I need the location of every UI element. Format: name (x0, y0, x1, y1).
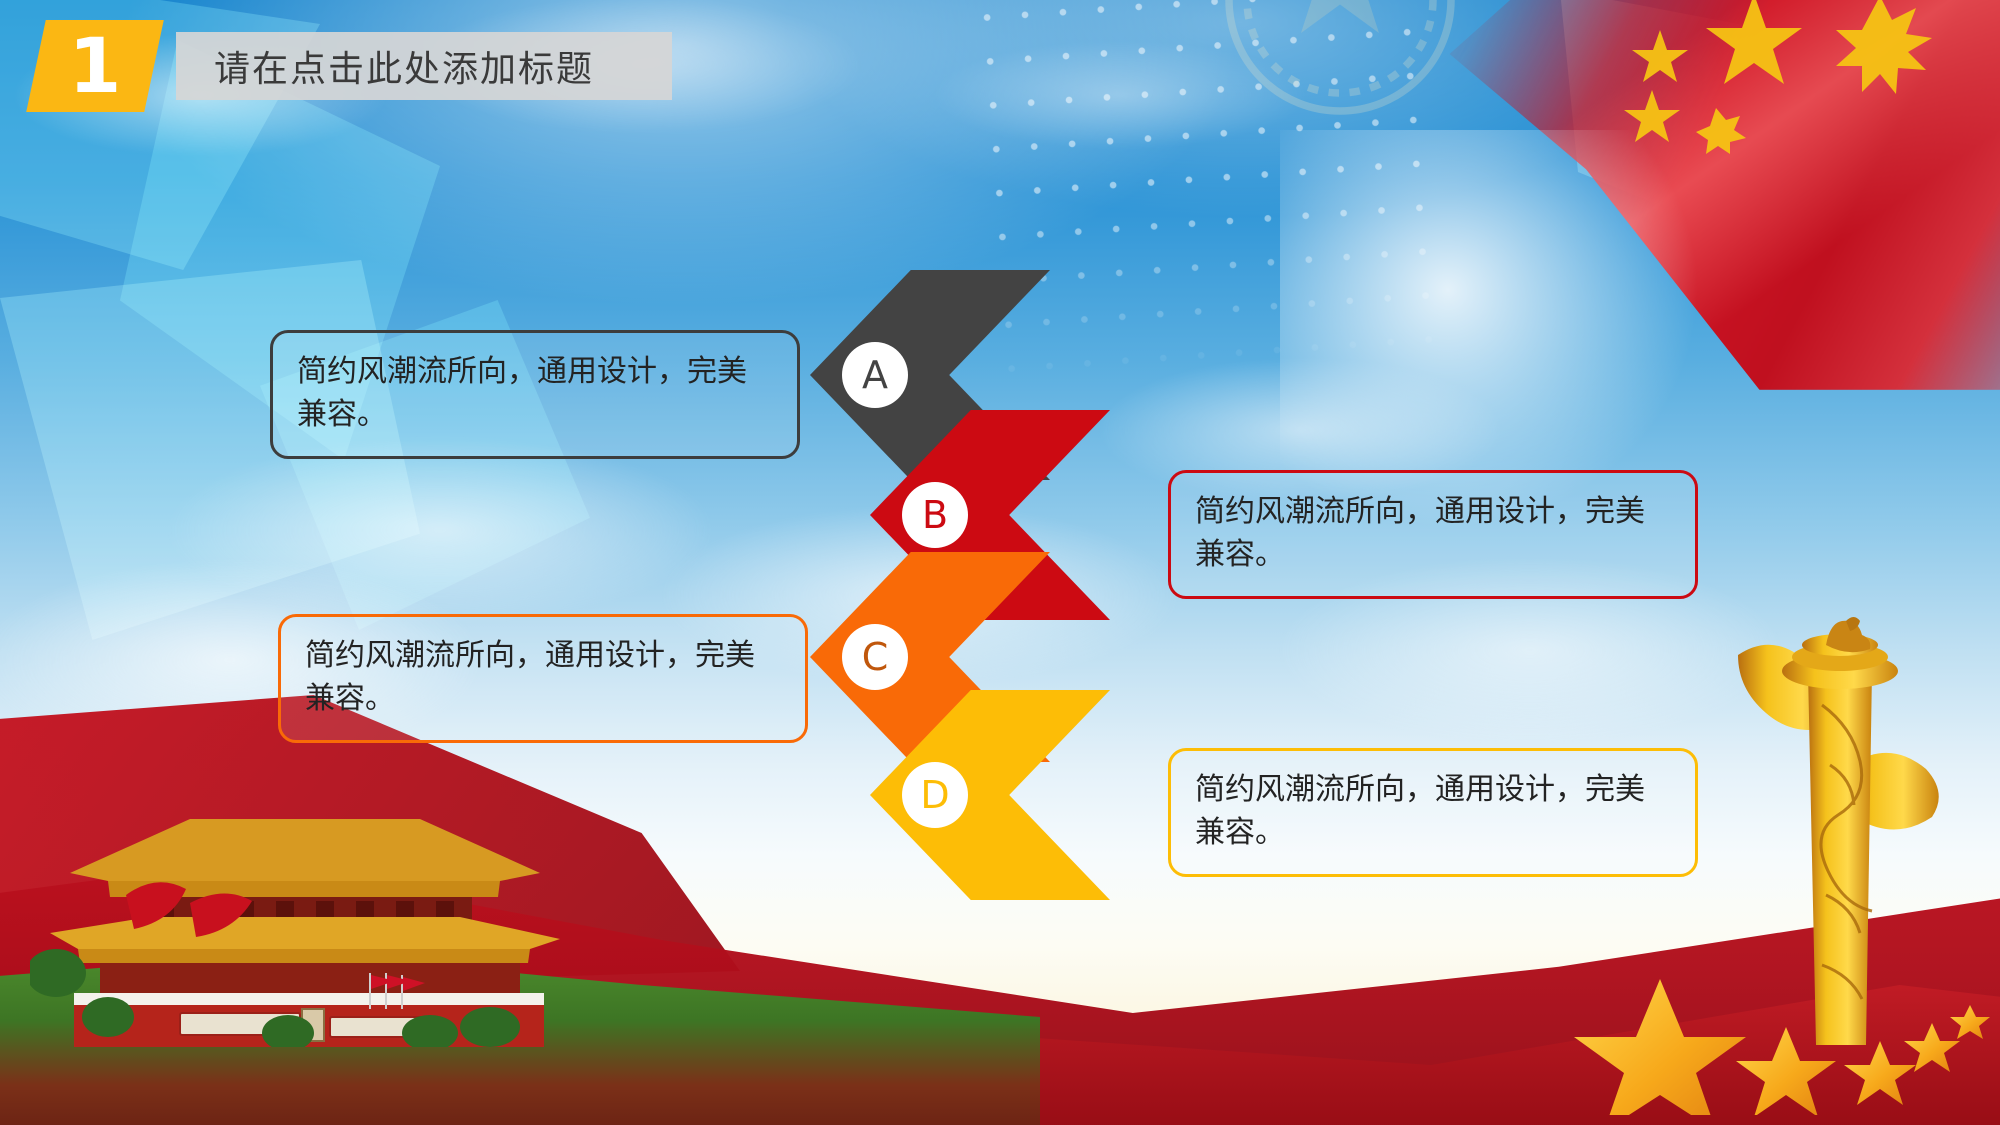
step-badge-d: D (902, 762, 968, 828)
tiananmen-gate-icon (30, 777, 570, 1047)
page-title: 请在点击此处添加标题 (214, 40, 594, 92)
step-text-a: 简约风潮流所向，通用设计，完美兼容。 (297, 351, 773, 436)
step-text-d: 简约风潮流所向，通用设计，完美兼容。 (1195, 769, 1671, 854)
step-text-c: 简约风潮流所向，通用设计，完美兼容。 (305, 635, 781, 720)
step-badge-c: C (842, 624, 908, 690)
title-bar[interactable]: 请在点击此处添加标题 (176, 32, 672, 100)
national-emblem-icon (1190, 0, 1490, 150)
step-textbox-a[interactable]: 简约风潮流所向，通用设计，完美兼容。 (270, 330, 800, 459)
gold-stars-icon (1550, 965, 1990, 1115)
section-number: 1 (36, 20, 154, 112)
section-number-badge: 1 (26, 20, 164, 112)
step-badge-a: A (842, 342, 908, 408)
step-text-b: 简约风潮流所向，通用设计，完美兼容。 (1195, 491, 1671, 576)
step-textbox-b[interactable]: 简约风潮流所向，通用设计，完美兼容。 (1168, 470, 1698, 599)
slide-canvas: 1 请在点击此处添加标题 A B C D 简约风潮流所向，通用设计，完美兼容。 … (0, 0, 2000, 1125)
step-badge-b: B (902, 482, 968, 548)
step-textbox-d[interactable]: 简约风潮流所向，通用设计，完美兼容。 (1168, 748, 1698, 877)
chevron-chain: A B C D (810, 270, 1180, 890)
step-textbox-c[interactable]: 简约风潮流所向，通用设计，完美兼容。 (278, 614, 808, 743)
